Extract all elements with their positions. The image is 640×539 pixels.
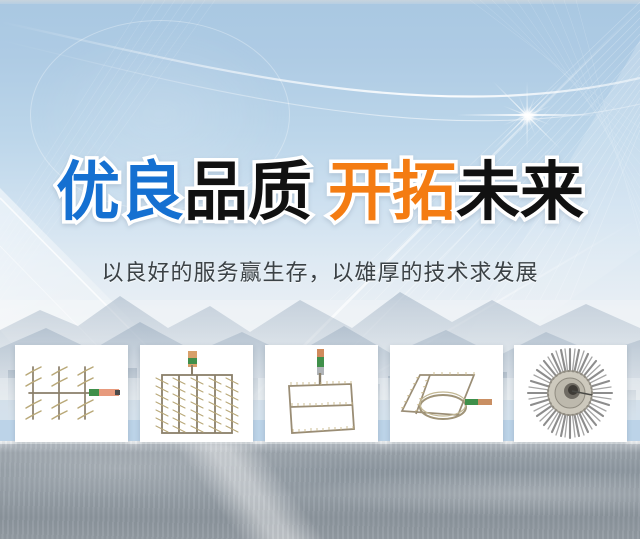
product-card-3[interactable] — [265, 345, 378, 442]
product-card-4[interactable] — [390, 345, 503, 442]
star-flare-icon — [527, 115, 529, 117]
comb-rack-hanger-icon — [15, 345, 128, 442]
product-card-2[interactable] — [140, 345, 253, 442]
product-card-1[interactable] — [15, 345, 128, 442]
headline-segment-4: 未来 — [456, 160, 584, 224]
double-row-spike-rack-icon — [140, 345, 253, 442]
ground-texture — [0, 441, 640, 539]
product-card-row — [15, 345, 640, 445]
headline-segment-1: 优良 — [56, 160, 184, 224]
page-title: 优良品质开拓未来 — [0, 160, 640, 224]
concrete-ground — [0, 441, 640, 539]
flat-frame-rack-icon — [265, 345, 378, 442]
headline-segment-3: 开拓 — [328, 160, 456, 224]
radial-sunburst-rack-icon — [514, 345, 627, 442]
product-card-5[interactable] — [514, 345, 627, 442]
ring-frame-rack-icon — [390, 345, 503, 442]
promo-banner: 优良品质开拓未来 以良好的服务赢生存，以雄厚的技术求发展 — [0, 0, 640, 539]
subtitle-slogan: 以良好的服务赢生存，以雄厚的技术求发展 — [0, 258, 640, 288]
headline-segment-2: 品质 — [184, 160, 312, 224]
